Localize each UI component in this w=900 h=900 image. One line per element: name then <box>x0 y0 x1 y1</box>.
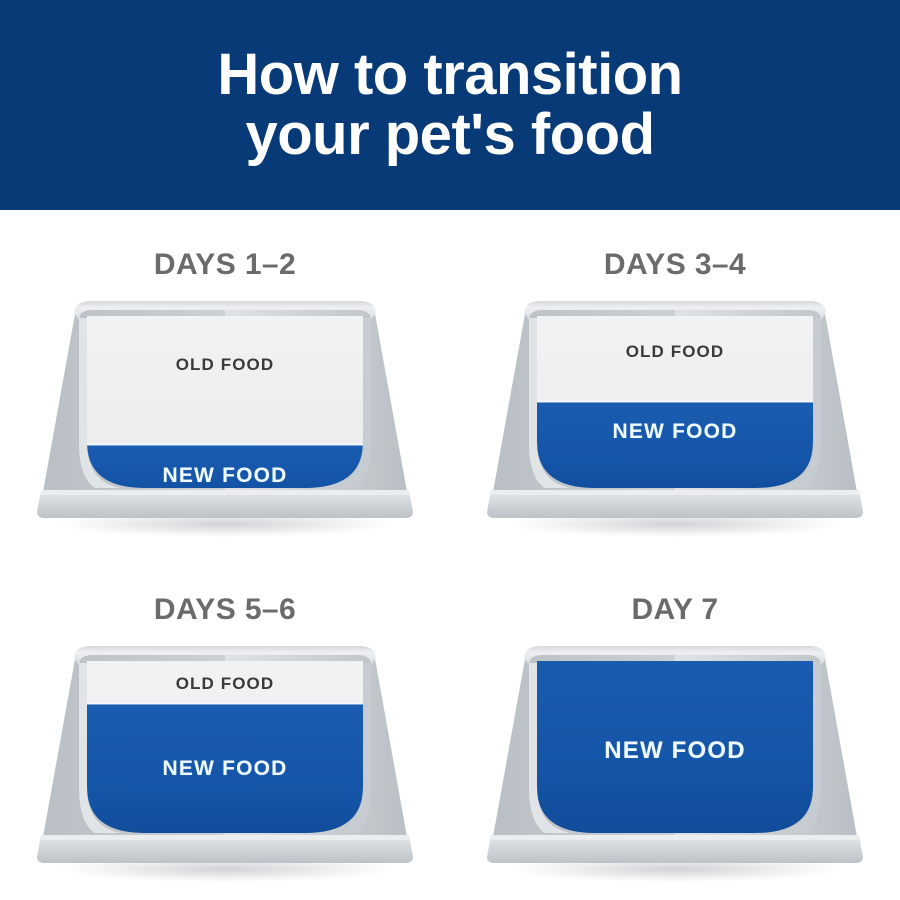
infographic-page: How to transition your pet's food DAYS 1… <box>0 0 900 900</box>
bowl-days-1-2: OLD FOOD NEW FOOD <box>35 292 415 542</box>
bowl-base-highlight <box>40 835 410 840</box>
step-days-5-6: DAYS 5–6 <box>0 555 450 900</box>
bowl-contents <box>525 302 825 502</box>
bowl-illustration-2 <box>485 292 865 542</box>
food-surface-highlight <box>525 401 825 403</box>
step-day-7: DAY 7 <box>450 555 900 900</box>
bowl-base-highlight <box>490 835 860 840</box>
bowl-illustration-4 <box>485 637 865 887</box>
header-banner: How to transition your pet's food <box>0 0 900 210</box>
bowl-contents <box>75 647 375 849</box>
bowl-base-highlight <box>490 490 860 495</box>
steps-grid: DAYS 1–2 <box>0 210 900 900</box>
step-label-days-5-6: DAYS 5–6 <box>154 593 296 627</box>
bowl-contents <box>525 647 825 847</box>
food-surface-highlight <box>75 703 375 705</box>
bowl-illustration-3 <box>35 637 415 887</box>
bowl-day-7: NEW FOOD <box>485 637 865 887</box>
page-title: How to transition your pet's food <box>217 45 682 166</box>
new-food-fill <box>75 704 375 849</box>
food-surface-highlight <box>75 444 375 446</box>
step-label-days-3-4: DAYS 3–4 <box>604 248 746 282</box>
bowl-contents <box>75 302 375 505</box>
step-days-1-2: DAYS 1–2 <box>0 210 450 555</box>
bowl-base-highlight <box>40 490 410 495</box>
step-label-days-1-2: DAYS 1–2 <box>154 248 296 282</box>
new-food-fill <box>525 647 825 847</box>
bowl-illustration-1 <box>35 292 415 542</box>
bowl-days-5-6: OLD FOOD NEW FOOD <box>35 637 415 887</box>
step-label-day-7: DAY 7 <box>631 593 718 627</box>
step-days-3-4: DAYS 3–4 <box>450 210 900 555</box>
bowl-days-3-4: OLD FOOD NEW FOOD <box>485 292 865 542</box>
